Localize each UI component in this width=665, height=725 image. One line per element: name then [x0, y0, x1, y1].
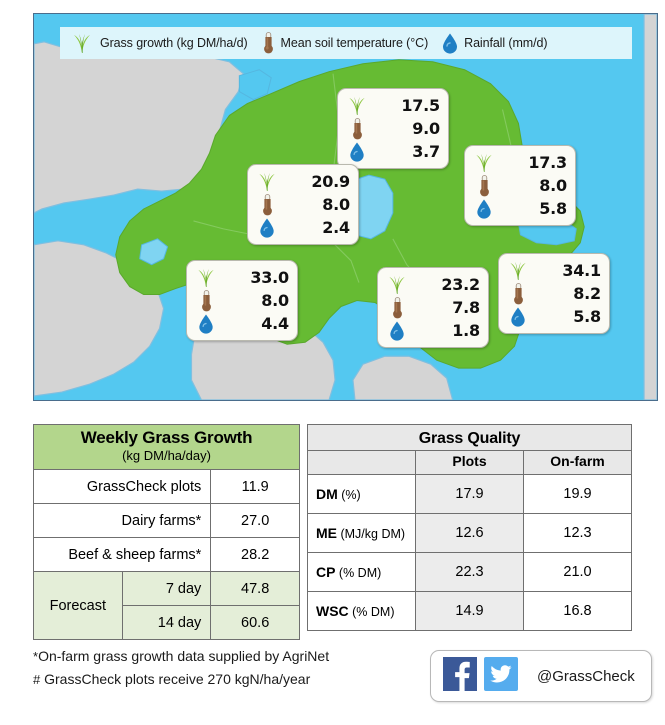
row-value-wsc-onfarm: 16.8: [524, 592, 632, 631]
row-label-beef-sheep-farms: Beef & sheep farms*: [34, 538, 211, 572]
map-callout-north-west[interactable]: 20.9 8.0 2.4: [247, 164, 359, 245]
callout-rain-row: 5.8: [471, 197, 567, 220]
row-label-forecast-7-day: 7 day: [122, 572, 211, 606]
raindrop-icon: [254, 218, 280, 238]
map-callout-south-east[interactable]: 34.1 8.2 5.8: [498, 253, 610, 334]
legend-label-grass-growth: Grass growth (kg DM/ha/d): [100, 36, 248, 50]
callout-temp-row: 8.0: [193, 289, 289, 312]
row-label-dairy-farms: Dairy farms*: [34, 504, 211, 538]
facebook-icon[interactable]: [443, 657, 477, 696]
row-value-cp-onfarm: 21.0: [524, 553, 632, 592]
thermometer-icon: [254, 194, 280, 216]
row-abbr-wsc: WSC: [316, 603, 349, 619]
map-callout-south-centre[interactable]: 23.2 7.8 1.8: [377, 267, 489, 348]
raindrop-icon: [193, 314, 219, 334]
raindrop-icon: [344, 142, 370, 162]
row-value-dm-onfarm: 19.9: [524, 475, 632, 514]
row-value-dairy-farms: 27.0: [211, 504, 300, 538]
row-unit-wsc: (% DM): [349, 605, 395, 619]
map-legend: Grass growth (kg DM/ha/d) Mean soil temp…: [60, 27, 632, 59]
callout-temp-value: 8.0: [280, 195, 350, 214]
callout-temp-row: 8.2: [505, 282, 601, 305]
grass-icon: [344, 96, 370, 115]
social-media-box: @GrassCheck: [430, 650, 652, 702]
callout-temp-value: 9.0: [370, 119, 440, 138]
legend-item-soil-temperature: Mean soil temperature (°C): [262, 32, 429, 54]
raindrop-icon: [384, 321, 410, 341]
grass-icon: [70, 33, 94, 53]
callout-temp-value: 7.8: [410, 298, 480, 317]
grass-quality-col-plots: Plots: [416, 451, 524, 475]
twitter-icon[interactable]: [484, 657, 518, 696]
table-row: ME (MJ/kg DM) 12.6 12.3: [308, 514, 632, 553]
row-abbr-me: ME: [316, 525, 337, 541]
row-value-beef-sheep-farms: 28.2: [211, 538, 300, 572]
footnote-text-nitrogen: GrassCheck plots receive 270 kgN/ha/year: [44, 671, 310, 687]
raindrop-icon: [442, 33, 458, 54]
callout-rain-row: 3.7: [344, 140, 440, 163]
grass-quality-blank-header: [308, 451, 416, 475]
thermometer-icon: [344, 118, 370, 140]
weekly-grass-growth-header: Weekly Grass Growth (kg DM/ha/day): [34, 425, 300, 470]
grass-quality-col-onfarm: On-farm: [524, 451, 632, 475]
legend-label-rainfall: Rainfall (mm/d): [464, 36, 547, 50]
table-row: CP (% DM) 22.3 21.0: [308, 553, 632, 592]
callout-grass-row: 17.5: [344, 94, 440, 117]
row-value-forecast-14-day: 60.6: [211, 606, 300, 640]
row-unit-me: (MJ/kg DM): [337, 527, 405, 541]
row-label-forecast: Forecast: [34, 572, 123, 640]
table-row: Beef & sheep farms* 28.2: [34, 538, 300, 572]
map-panel: Grass growth (kg DM/ha/d) Mean soil temp…: [33, 13, 658, 401]
table-row: DM (%) 17.9 19.9: [308, 475, 632, 514]
legend-item-rainfall: Rainfall (mm/d): [442, 33, 547, 54]
row-value-me-plots: 12.6: [416, 514, 524, 553]
row-label-wsc: WSC (% DM): [308, 592, 416, 631]
thermometer-icon: [262, 32, 275, 54]
map-callout-south-west[interactable]: 33.0 8.0 4.4: [186, 260, 298, 341]
callout-rain-value: 5.8: [497, 199, 567, 218]
callout-grass-value: 33.0: [219, 268, 289, 287]
callout-rain-row: 1.8: [384, 319, 480, 342]
raindrop-icon: [471, 199, 497, 219]
callout-rain-row: 5.8: [505, 305, 601, 328]
table-row: Forecast 7 day 47.8: [34, 572, 300, 606]
row-label-forecast-14-day: 14 day: [122, 606, 211, 640]
callout-grass-value: 23.2: [410, 275, 480, 294]
callout-grass-value: 17.3: [497, 153, 567, 172]
callout-rain-value: 4.4: [219, 314, 289, 333]
row-value-dm-plots: 17.9: [416, 475, 524, 514]
row-abbr-dm: DM: [316, 486, 338, 502]
callout-grass-row: 33.0: [193, 266, 289, 289]
grass-icon: [505, 261, 531, 280]
thermometer-icon: [505, 283, 531, 305]
callout-grass-row: 20.9: [254, 170, 350, 193]
row-abbr-cp: CP: [316, 564, 335, 580]
map-callout-north-east[interactable]: 17.3 8.0 5.8: [464, 145, 576, 226]
callout-temp-row: 7.8: [384, 296, 480, 319]
social-handle: @GrassCheck: [537, 668, 635, 685]
thermometer-icon: [193, 290, 219, 312]
weekly-grass-growth-table: Weekly Grass Growth (kg DM/ha/day) Grass…: [33, 424, 300, 640]
callout-rain-value: 3.7: [370, 142, 440, 161]
grass-quality-title: Grass Quality: [308, 425, 632, 451]
callout-grass-row: 34.1: [505, 259, 601, 282]
grass-icon: [254, 172, 280, 191]
callout-rain-value: 5.8: [531, 307, 601, 326]
callout-grass-row: 23.2: [384, 273, 480, 296]
row-value-cp-plots: 22.3: [416, 553, 524, 592]
row-label-cp: CP (% DM): [308, 553, 416, 592]
map-callout-north-coast[interactable]: 17.5 9.0 3.7: [337, 88, 449, 169]
thermometer-icon: [384, 297, 410, 319]
footnote-onfarm: *On-farm grass growth data supplied by A…: [33, 645, 433, 668]
table-row: Dairy farms* 27.0: [34, 504, 300, 538]
row-label-me: ME (MJ/kg DM): [308, 514, 416, 553]
row-value-grasscheck-plots: 11.9: [211, 470, 300, 504]
callout-temp-row: 8.0: [254, 193, 350, 216]
weekly-grass-growth-subtitle: (kg DM/ha/day): [34, 448, 299, 464]
legend-label-soil-temperature: Mean soil temperature (°C): [281, 36, 429, 50]
callout-rain-value: 1.8: [410, 321, 480, 340]
row-value-wsc-plots: 14.9: [416, 592, 524, 631]
table-subheader-row: Plots On-farm: [308, 451, 632, 475]
row-value-me-onfarm: 12.3: [524, 514, 632, 553]
grass-quality-table: Grass Quality Plots On-farm DM (%) 17.9 …: [307, 424, 632, 631]
callout-grass-value: 34.1: [531, 261, 601, 280]
weekly-grass-growth-title: Weekly Grass Growth: [34, 428, 299, 448]
table-row: GrassCheck plots 11.9: [34, 470, 300, 504]
grass-icon: [384, 275, 410, 294]
table-header-row: Grass Quality: [308, 425, 632, 451]
callout-grass-row: 17.3: [471, 151, 567, 174]
grass-icon: [193, 268, 219, 287]
row-unit-cp: (% DM): [335, 566, 381, 580]
thermometer-icon: [471, 175, 497, 197]
row-label-dm: DM (%): [308, 475, 416, 514]
callout-grass-value: 20.9: [280, 172, 350, 191]
table-header-row: Weekly Grass Growth (kg DM/ha/day): [34, 425, 300, 470]
callout-rain-row: 4.4: [193, 312, 289, 335]
footnote-text-onfarm: On-farm grass growth data supplied by Ag…: [38, 648, 329, 664]
table-row: WSC (% DM) 14.9 16.8: [308, 592, 632, 631]
row-unit-dm: (%): [338, 488, 361, 502]
callout-temp-value: 8.0: [497, 176, 567, 195]
callout-temp-value: 8.0: [219, 291, 289, 310]
callout-rain-row: 2.4: [254, 216, 350, 239]
grass-icon: [471, 153, 497, 172]
footnote-nitrogen: # GrassCheck plots receive 270 kgN/ha/ye…: [33, 668, 433, 691]
callout-temp-row: 8.0: [471, 174, 567, 197]
row-label-grasscheck-plots: GrassCheck plots: [34, 470, 211, 504]
callout-temp-value: 8.2: [531, 284, 601, 303]
footnote-mark-hash: #: [33, 672, 40, 687]
legend-item-grass-growth: Grass growth (kg DM/ha/d): [70, 33, 248, 53]
raindrop-icon: [505, 307, 531, 327]
callout-rain-value: 2.4: [280, 218, 350, 237]
row-value-forecast-7-day: 47.8: [211, 572, 300, 606]
footnotes: *On-farm grass growth data supplied by A…: [33, 645, 433, 691]
callout-grass-value: 17.5: [370, 96, 440, 115]
callout-temp-row: 9.0: [344, 117, 440, 140]
